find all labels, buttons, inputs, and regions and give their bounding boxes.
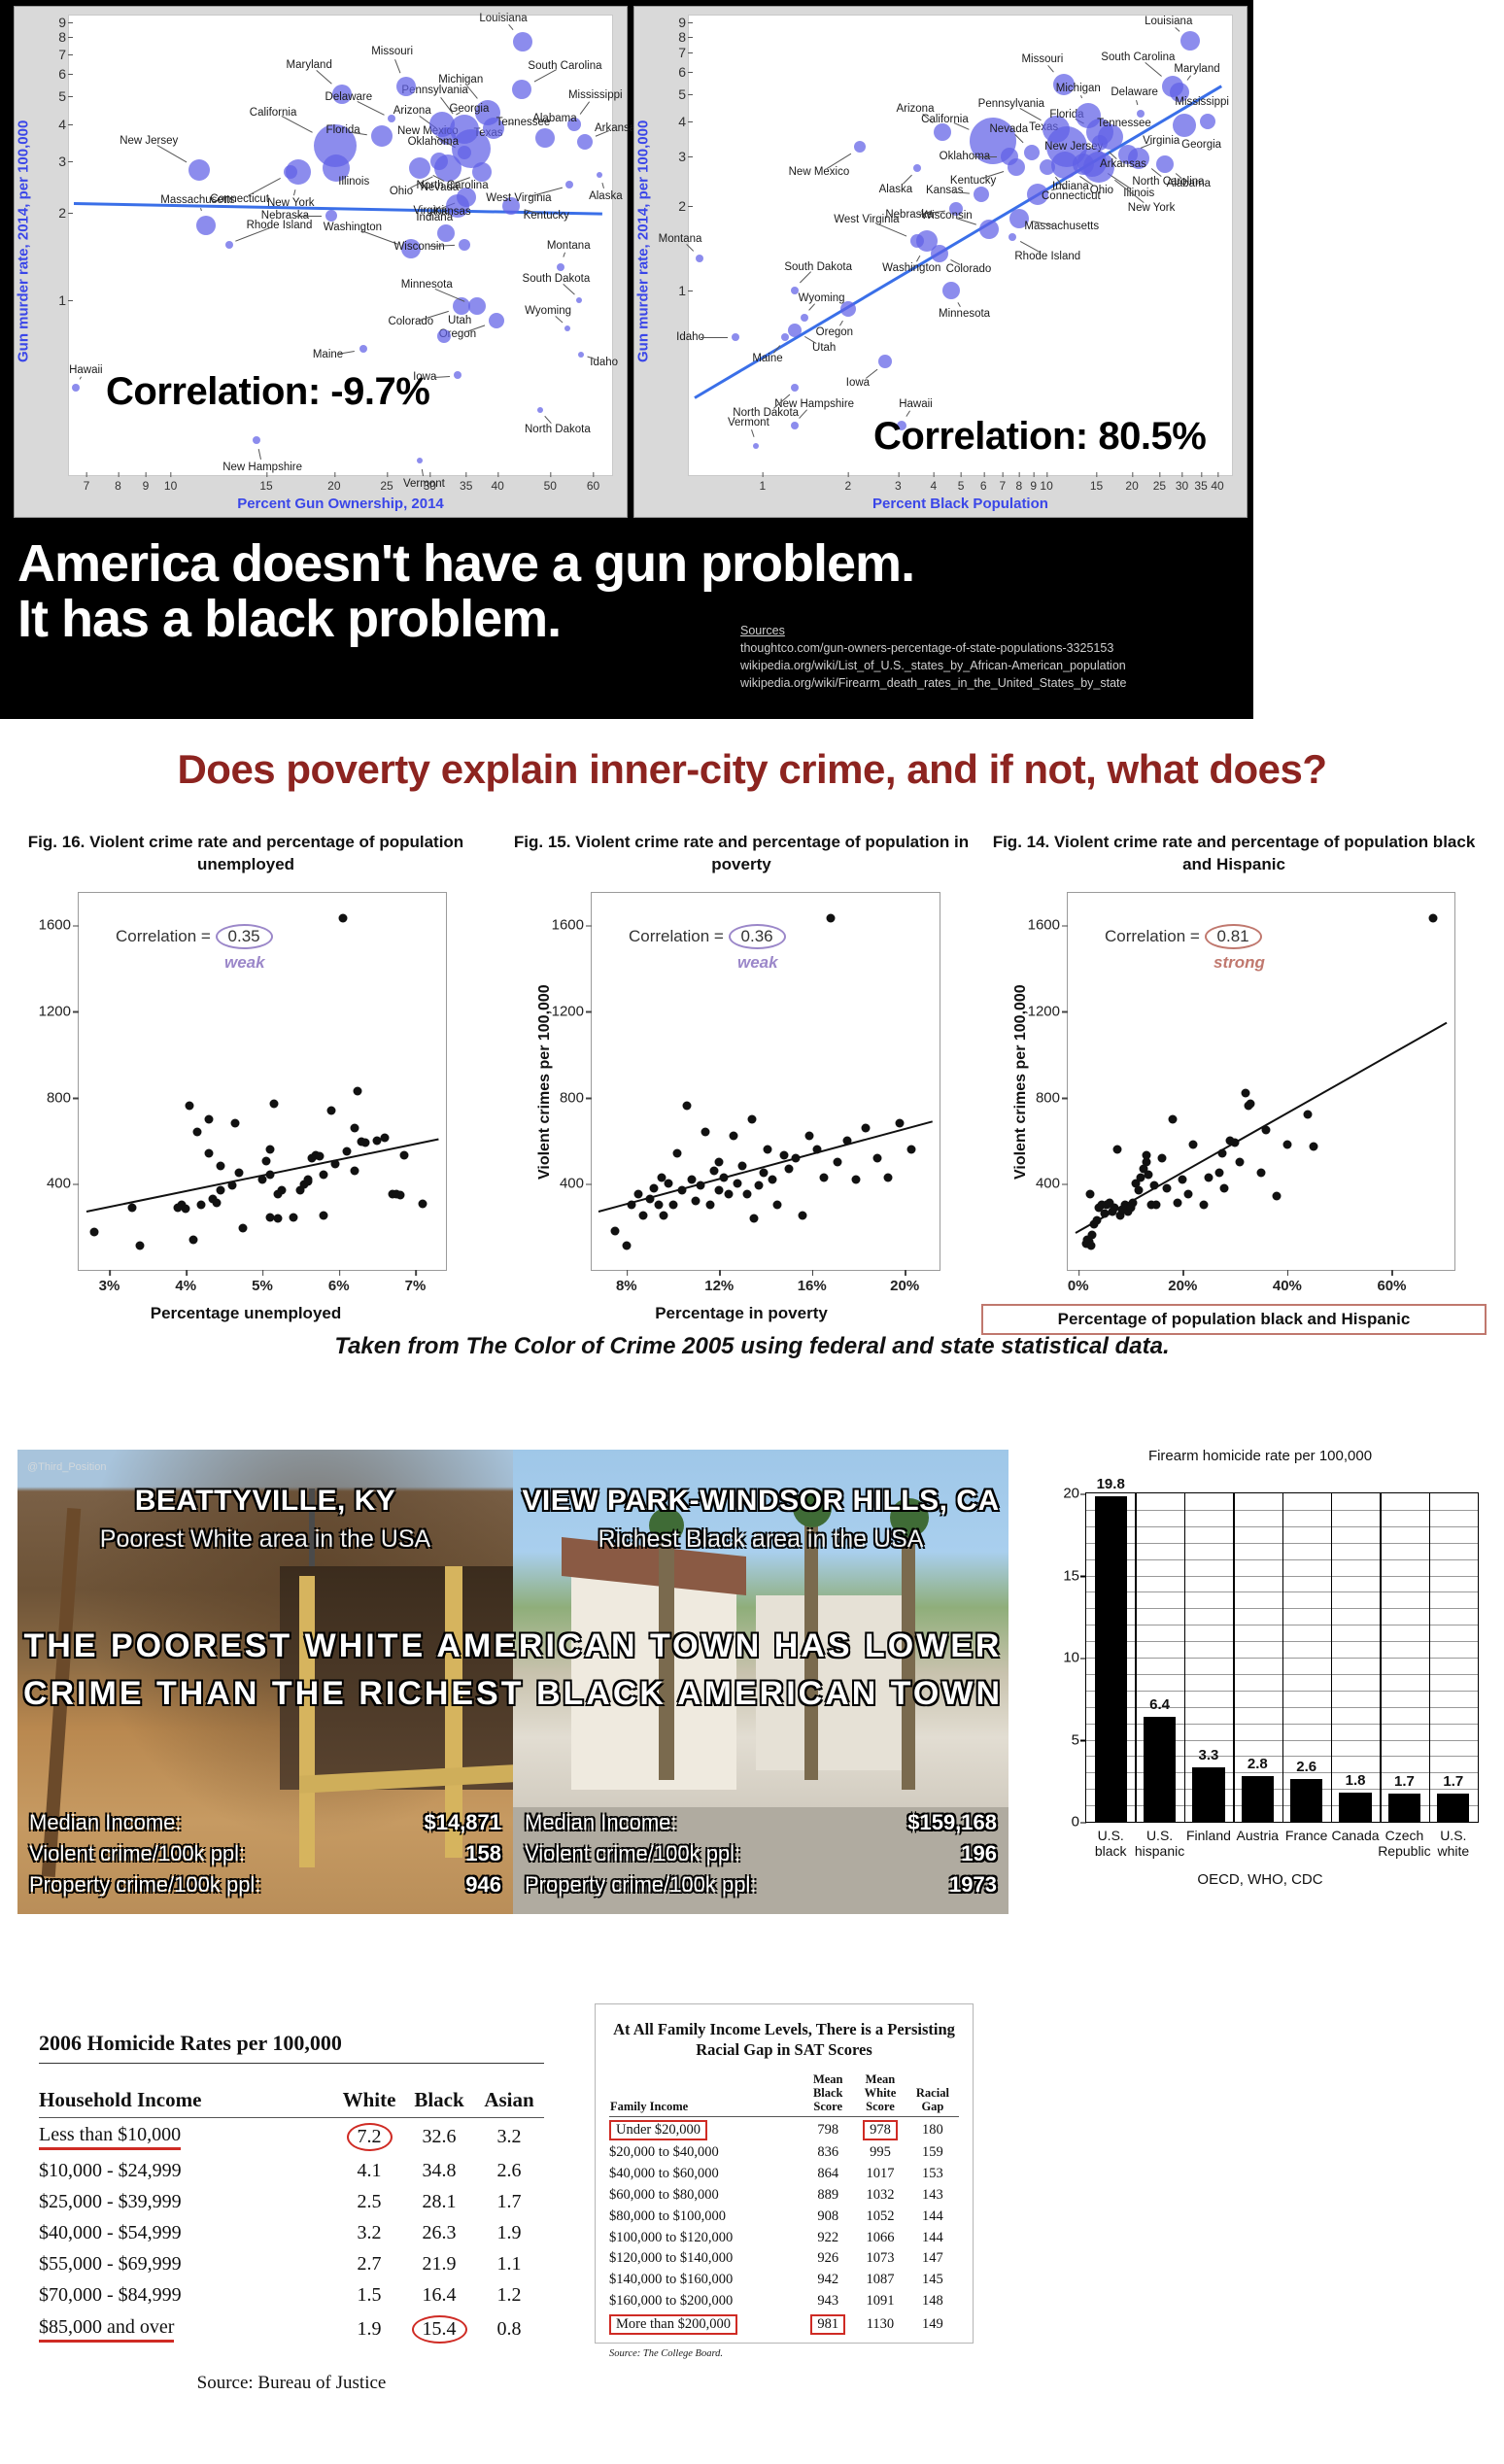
overlay-line-2: CRIME THAN THE RICHEST BLACK AMERICAN TO… — [17, 1670, 1008, 1718]
data-point — [750, 1214, 759, 1222]
x-axis-tick: 35 — [460, 479, 472, 493]
x-axis-tick: 30 — [1176, 479, 1188, 493]
data-point — [89, 1228, 98, 1237]
leader-line — [79, 376, 81, 379]
data-point — [361, 1139, 370, 1147]
data-point — [261, 1156, 270, 1165]
data-point — [622, 1242, 631, 1250]
table-row: $20,000 to $40,000836995159 — [609, 2142, 959, 2164]
data-point — [350, 1166, 359, 1175]
data-bubble — [409, 157, 430, 179]
cell-mean-white-score: 1017 — [854, 2164, 906, 2185]
cell-family-income: $140,000 to $160,000 — [609, 2270, 802, 2291]
data-bubble — [979, 220, 999, 239]
col-asian: Asian — [474, 2085, 544, 2118]
data-bubble — [430, 153, 448, 170]
cell-family-income: More than $200,000 — [609, 2311, 802, 2337]
x-axis-tick: 20 — [327, 479, 340, 493]
stat-label: Violent crime/100k ppl: — [525, 1838, 740, 1869]
leader-line — [916, 256, 920, 262]
data-point — [1113, 1145, 1122, 1153]
data-point — [1189, 1141, 1198, 1149]
scatter-chart-gun-ownership: Gun murder rate, 2014, per 100,000 12345… — [14, 6, 628, 518]
point-label: Kansas — [433, 206, 470, 218]
bar — [1437, 1794, 1469, 1822]
data-point — [705, 1201, 714, 1210]
data-bubble — [1156, 155, 1174, 173]
correlation-strength: weak — [737, 953, 778, 973]
data-bubble — [753, 443, 759, 449]
table-row: $40,000 - $54,9993.226.31.9 — [39, 2217, 544, 2248]
cell-household-income: $25,000 - $39,999 — [39, 2186, 334, 2217]
table-row: $25,000 - $39,9992.528.11.7 — [39, 2186, 544, 2217]
y-axis-tick: 3 — [58, 154, 66, 169]
x-axis-tick: 2 — [845, 479, 852, 493]
y-axis-tick: 400 — [1036, 1176, 1060, 1192]
source-item: wikipedia.org/wiki/List_of_U.S._states_b… — [740, 657, 1126, 674]
leader-line — [545, 416, 552, 424]
leader-line — [200, 208, 202, 211]
cell-asian: 0.8 — [474, 2310, 544, 2347]
cell-mean-black-score: 981 — [802, 2311, 854, 2337]
y-axis-tick: 3 — [678, 149, 686, 164]
figure-15: Fig. 15. Violent crime rate and percenta… — [513, 832, 970, 1323]
figure-14-xlabel: Percentage of population black and Hispa… — [981, 1304, 1487, 1335]
correlation-label: Correlation = — [116, 927, 216, 945]
point-label: Connecticut — [1042, 190, 1101, 202]
data-point — [742, 1190, 751, 1199]
y-axis-title-left: Gun murder rate, 2014, per 100,000 — [11, 7, 36, 476]
bar-value-label: 2.8 — [1248, 1756, 1268, 1772]
table2-title: At All Family Income Levels, There is a … — [609, 2020, 959, 2060]
data-point — [399, 1151, 408, 1160]
point-label: Maryland — [1174, 63, 1219, 75]
data-point — [759, 1169, 768, 1178]
data-point — [1163, 1183, 1172, 1192]
data-point — [826, 914, 835, 923]
stat-value: $159,168 — [907, 1807, 997, 1838]
point-label: Mississippi — [568, 89, 623, 101]
cell-mean-black-score: 836 — [802, 2142, 854, 2164]
grid-line — [1282, 1493, 1284, 1822]
data-point — [186, 1102, 194, 1111]
data-bubble — [437, 224, 455, 242]
data-bubble — [1180, 31, 1200, 51]
cell-household-income: $85,000 and over — [39, 2310, 334, 2347]
leader-line — [258, 449, 261, 460]
sources-list: Sources thoughtco.com/gun-owners-percent… — [740, 622, 1126, 693]
figure-16: Fig. 16. Violent crime rate and percenta… — [17, 832, 474, 1323]
point-label: Michigan — [1056, 83, 1101, 94]
bar — [1144, 1717, 1176, 1822]
y-axis-title-right: Gun murder rate, 2014, per 100,000 — [631, 7, 656, 476]
panel2-title: Does poverty explain inner-city crime, a… — [0, 746, 1504, 793]
data-bubble — [325, 210, 337, 222]
bar — [1290, 1779, 1322, 1822]
point-label: Hawaii — [899, 398, 933, 410]
point-label: Louisiana — [479, 13, 527, 24]
data-point — [1220, 1183, 1229, 1192]
leader-line — [800, 409, 808, 418]
point-label: Delaware — [325, 91, 373, 103]
figure-15-xlabel: Percentage in poverty — [513, 1304, 970, 1323]
cell-white: 3.2 — [334, 2217, 404, 2248]
data-point — [1282, 1141, 1291, 1149]
point-label: Arkansas — [1100, 158, 1146, 170]
data-bubble — [417, 458, 423, 463]
bar-value-label: 6.4 — [1149, 1696, 1170, 1713]
data-point — [1273, 1192, 1282, 1201]
data-point — [239, 1223, 248, 1232]
leader-line — [579, 101, 589, 115]
leader-line — [509, 24, 514, 30]
data-point — [216, 1185, 224, 1194]
data-point — [724, 1190, 733, 1199]
point-label: Pennsylvania — [978, 98, 1044, 110]
data-point — [884, 1173, 893, 1181]
cell-racial-gap: 147 — [906, 2248, 959, 2270]
point-label: Mississippi — [1175, 96, 1229, 108]
data-bubble — [931, 245, 948, 262]
data-bubble — [459, 239, 470, 251]
cell-household-income: $40,000 - $54,999 — [39, 2217, 334, 2248]
data-point — [769, 1175, 777, 1183]
data-bubble — [854, 141, 866, 153]
y-axis-tick: 400 — [560, 1176, 584, 1192]
data-point — [273, 1214, 282, 1222]
fit-line — [598, 1120, 933, 1213]
data-point — [1085, 1190, 1094, 1199]
leader-line — [957, 302, 960, 307]
table-header-row: Household Income White Black Asian — [39, 2085, 544, 2118]
y-axis-tick: 1600 — [1028, 917, 1060, 934]
data-point — [338, 914, 347, 923]
banner-line-1: America doesn't have a gun problem. — [17, 536, 914, 592]
x-axis-tick: 8 — [1015, 479, 1022, 493]
cell-mean-black-score: 889 — [802, 2185, 854, 2207]
cell-racial-gap: 144 — [906, 2227, 959, 2248]
poverty-crime-panel: Does poverty explain inner-city crime, a… — [0, 725, 1504, 1415]
point-label: Washington — [882, 262, 940, 274]
table-row: $140,000 to $160,0009421087145 — [609, 2270, 959, 2291]
table-row: $55,000 - $69,9992.721.91.1 — [39, 2248, 544, 2279]
data-bubble — [732, 333, 739, 341]
y-axis-tick: 15 — [1063, 1567, 1079, 1584]
point-label: New Hampshire — [222, 462, 302, 473]
cell-family-income: $60,000 to $80,000 — [609, 2185, 802, 2207]
point-label: Arizona — [393, 105, 431, 117]
leader-line — [1136, 100, 1138, 105]
point-label: South Carolina — [1101, 51, 1175, 63]
data-point — [772, 1201, 781, 1210]
cell-asian: 3.2 — [474, 2118, 544, 2156]
point-label: Maryland — [287, 59, 332, 71]
table-header-row: Family Income Mean Black Score Mean Whit… — [609, 2071, 959, 2117]
stat-label: Median Income: — [525, 1807, 677, 1838]
cell-asian: 1.2 — [474, 2279, 544, 2310]
y-axis-tick: 800 — [560, 1089, 584, 1106]
table-row: $40,000 to $60,0008641017153 — [609, 2164, 959, 2185]
cell-mean-black-score: 864 — [802, 2164, 854, 2185]
cell-black: 16.4 — [404, 2279, 474, 2310]
bar — [1339, 1793, 1371, 1822]
point-label: South Carolina — [528, 60, 601, 72]
col-household-income: Household Income — [39, 2085, 334, 2118]
y-axis-tick: 1600 — [552, 917, 584, 934]
bar-chart-source: OECD, WHO, CDC — [1032, 1871, 1488, 1888]
plot-area-left: 123456789789101520253035405060HawaiiNew … — [68, 15, 613, 476]
point-label: Alaska — [879, 184, 913, 195]
data-point — [395, 1191, 404, 1200]
data-bubble — [72, 384, 80, 392]
point-label: Wyoming — [525, 305, 571, 317]
data-bubble — [878, 355, 892, 368]
point-label: Maine — [313, 349, 343, 360]
cell-asian: 1.9 — [474, 2217, 544, 2248]
data-bubble — [513, 32, 532, 51]
table-row: $10,000 - $24,9994.134.82.6 — [39, 2155, 544, 2186]
data-point — [193, 1127, 202, 1136]
y-axis-tick: 800 — [47, 1089, 71, 1106]
leader-line — [839, 321, 843, 325]
cell-asian: 1.1 — [474, 2248, 544, 2279]
point-label: Minnesota — [939, 308, 990, 320]
data-point — [1214, 1169, 1223, 1178]
cell-black: 32.6 — [404, 2118, 474, 2156]
leader-line — [394, 59, 400, 73]
data-point — [682, 1102, 691, 1111]
cell-black: 15.4 — [404, 2310, 474, 2347]
grid-line — [1233, 1493, 1235, 1822]
x-axis-tick: 40 — [491, 479, 503, 493]
correlation-strength: strong — [1213, 953, 1265, 973]
data-point — [659, 1212, 667, 1220]
leader-line — [293, 190, 295, 196]
point-label: Rhode Island — [1014, 251, 1080, 262]
leader-line — [1187, 75, 1191, 80]
grid-line — [1429, 1493, 1431, 1822]
x-axis-tick: 25 — [1153, 479, 1166, 493]
bar-category-label: U.S. black — [1095, 1828, 1127, 1859]
y-axis-tick: 1200 — [39, 1003, 71, 1019]
data-point — [289, 1213, 297, 1221]
grid-line — [1380, 1493, 1382, 1822]
y-axis-tick: 2 — [58, 205, 66, 221]
data-point — [1304, 1111, 1313, 1119]
scatter-chart-black-population: Gun murder rate, 2014, per 100,000 12345… — [633, 6, 1248, 518]
data-point — [1145, 1171, 1153, 1180]
data-bubble — [934, 123, 951, 141]
y-axis-tick: 1200 — [552, 1003, 584, 1019]
y-axis-tick: 7 — [678, 45, 686, 60]
cell-household-income: $10,000 - $24,999 — [39, 2155, 334, 2186]
data-bubble — [437, 329, 451, 343]
figure-15-plot: Violent crimes per 100,00040080012001600… — [591, 892, 940, 1271]
data-point — [633, 1190, 642, 1199]
point-label: Wisconsin — [393, 241, 444, 253]
data-bubble — [1008, 158, 1025, 176]
cell-black: 26.3 — [404, 2217, 474, 2248]
x-axis-tick: 3 — [895, 479, 902, 493]
data-bubble — [577, 134, 593, 150]
data-bubble — [801, 314, 808, 322]
data-point — [235, 1169, 244, 1178]
data-point — [320, 1171, 328, 1180]
data-point — [326, 1106, 335, 1114]
table-row: $160,000 to $200,0009431091148 — [609, 2291, 959, 2312]
bar — [1095, 1496, 1127, 1822]
town-comparison-panel: BEATTYVILLE, KY Poorest White area in th… — [0, 1438, 1504, 1982]
cell-racial-gap: 153 — [906, 2164, 959, 2185]
leader-line — [434, 376, 450, 378]
data-point — [715, 1185, 724, 1194]
y-axis-tick: 8 — [678, 29, 686, 45]
data-point — [747, 1114, 756, 1123]
point-label: Missouri — [371, 46, 413, 57]
correlation-strength: weak — [224, 953, 265, 973]
watermark: @Third_Position — [27, 1461, 106, 1473]
data-point — [692, 1196, 701, 1205]
data-point — [381, 1133, 390, 1142]
leader-line — [974, 156, 997, 157]
x-axis-title-right: Percent Black Population — [688, 496, 1233, 515]
data-bubble — [286, 159, 311, 185]
bar-category-label: Austria — [1237, 1828, 1280, 1843]
col-racial-gap: Racial Gap — [906, 2071, 959, 2117]
cell-household-income: $70,000 - $84,999 — [39, 2279, 334, 2310]
y-axis-tick: 4 — [58, 117, 66, 132]
point-label: Minnesota — [401, 279, 453, 291]
figure-16-xlabel: Percentage unemployed — [17, 1304, 474, 1323]
cell-mean-black-score: 922 — [802, 2227, 854, 2248]
x-axis-tick: 4 — [930, 479, 937, 493]
stat-label: Violent crime/100k ppl: — [29, 1838, 245, 1869]
data-point — [1142, 1151, 1150, 1160]
stat-value: 946 — [465, 1869, 501, 1900]
figure-14: Fig. 14. Violent crime rate and percenta… — [981, 832, 1487, 1335]
data-point — [1257, 1169, 1266, 1178]
cell-mean-black-score: 943 — [802, 2291, 854, 2312]
point-label: Vermont — [403, 478, 445, 490]
stat-row: Violent crime/100k ppl:158 — [29, 1838, 501, 1869]
data-point — [189, 1235, 198, 1244]
data-bubble — [913, 164, 921, 172]
data-point — [128, 1203, 137, 1212]
y-axis-tick: 2 — [678, 198, 686, 214]
point-label: Florida — [326, 124, 360, 136]
bar — [1388, 1794, 1420, 1822]
source-item: wikipedia.org/wiki/Firearm_death_rates_i… — [740, 674, 1126, 692]
figure-14-caption: Fig. 14. Violent crime rate and percenta… — [981, 832, 1487, 876]
table2-source: Source: The College Board. — [609, 2348, 959, 2359]
table-row: $120,000 to $140,0009261073147 — [609, 2248, 959, 2270]
leader-line — [316, 70, 332, 85]
cell-mean-white-score: 1130 — [854, 2311, 906, 2337]
bar-value-label: 19.8 — [1097, 1476, 1125, 1492]
correlation-annotation: Correlation: -9.7% — [106, 370, 429, 414]
leader-line — [563, 253, 565, 257]
leader-line — [555, 316, 563, 323]
correlation-label: Correlation = — [1105, 927, 1205, 945]
homicide-rates-table-block: 2006 Homicide Rates per 100,000 Househol… — [39, 2031, 544, 2394]
data-bubble — [974, 187, 989, 202]
cell-mean-black-score: 798 — [802, 2117, 854, 2142]
x-axis-tick: 1 — [760, 479, 767, 493]
cell-mean-black-score: 942 — [802, 2270, 854, 2291]
data-point — [610, 1226, 619, 1235]
point-label: Nevada — [989, 123, 1028, 135]
leader-line — [751, 429, 755, 437]
data-bubble — [1092, 135, 1108, 151]
y-axis-tick: 5 — [58, 88, 66, 104]
point-label: South Dakota — [784, 261, 852, 273]
data-point — [320, 1212, 328, 1220]
y-axis-tick: 5 — [678, 86, 686, 102]
data-point — [136, 1242, 145, 1250]
source-item: thoughtco.com/gun-owners-percentage-of-s… — [740, 639, 1126, 657]
data-point — [710, 1166, 719, 1175]
bar-value-label: 2.6 — [1296, 1759, 1316, 1775]
stat-row: Property crime/100k ppl:1973 — [525, 1869, 997, 1900]
point-label: Georgia — [1181, 139, 1221, 151]
bar-value-label: 1.7 — [1394, 1773, 1415, 1790]
cell-black: 34.8 — [404, 2155, 474, 2186]
data-point — [204, 1114, 213, 1123]
table-row: $100,000 to $120,0009221066144 — [609, 2227, 959, 2248]
cell-household-income: $55,000 - $69,999 — [39, 2248, 334, 2279]
x-axis-tick: 40% — [1273, 1278, 1302, 1294]
data-bubble — [253, 436, 260, 444]
data-bubble — [565, 181, 573, 188]
leader-line — [422, 469, 424, 476]
x-axis-tick: 5% — [252, 1278, 273, 1294]
y-axis-tick: 400 — [47, 1176, 71, 1192]
data-point — [1183, 1190, 1192, 1199]
cell-mean-white-score: 995 — [854, 2142, 906, 2164]
town-name: VIEW PARK-WINDSOR HILLS, CA — [513, 1485, 1008, 1518]
leader-line — [686, 244, 694, 252]
data-point — [1087, 1231, 1096, 1240]
y-axis-tick: 8 — [58, 29, 66, 45]
grid-line — [1184, 1493, 1186, 1822]
x-axis-tick: 25 — [380, 479, 393, 493]
cell-white: 4.1 — [334, 2155, 404, 2186]
point-label: New York — [267, 197, 315, 209]
point-label: North Carolina — [416, 180, 488, 191]
x-axis-tick: 7 — [999, 479, 1006, 493]
point-label: Tennessee — [1097, 118, 1151, 129]
data-bubble — [535, 128, 555, 148]
data-bubble — [578, 352, 584, 358]
town-stats: Median Income:$159,168 Violent crime/100… — [525, 1807, 997, 1900]
sat-scores-table-block: At All Family Income Levels, There is a … — [595, 2003, 974, 2344]
stat-value: $14,871 — [424, 1807, 501, 1838]
data-bubble — [597, 172, 602, 178]
col-mean-white-score: Mean White Score — [854, 2071, 906, 2117]
sat-scores-table: Family Income Mean Black Score Mean Whit… — [609, 2071, 959, 2337]
correlation-note: Correlation = 0.81 — [1105, 924, 1262, 949]
x-axis-tick: 10 — [1040, 479, 1052, 493]
leader-line — [1175, 27, 1179, 32]
cell-family-income: $20,000 to $40,000 — [609, 2142, 802, 2164]
gun-ownership-meme-panel: Gun murder rate, 2014, per 100,000 12345… — [0, 0, 1253, 719]
bar-category-label: U.S. white — [1437, 1828, 1469, 1859]
figure-16-caption: Fig. 16. Violent crime rate and percenta… — [17, 832, 474, 876]
point-label: Oregon — [816, 326, 853, 338]
data-point — [265, 1145, 274, 1153]
town-subtitle: Richest Black area in the USA — [513, 1525, 1008, 1554]
leader-line — [804, 336, 817, 344]
